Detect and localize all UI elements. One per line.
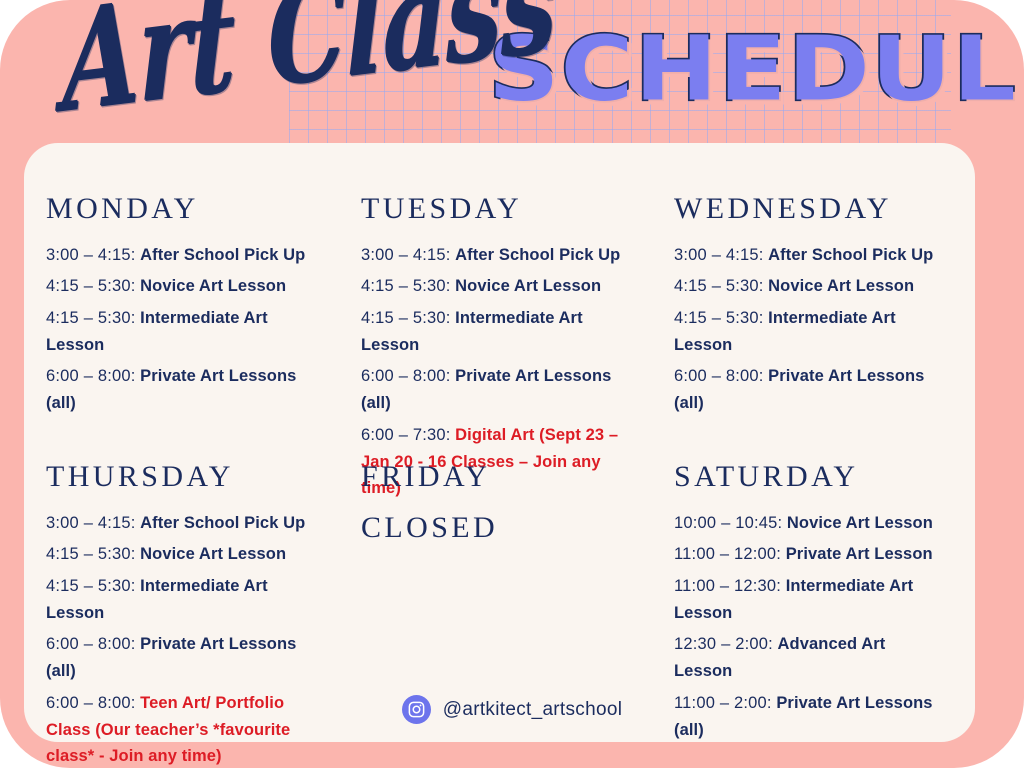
schedule-entry: 4:15 – 5:30: Novice Art Lesson [46,541,329,568]
schedule-entry: 4:15 – 5:30: Intermediate Art Lesson [46,305,329,358]
footer: @artkitect_artschool [0,695,1024,724]
schedule-entry: 4:15 – 5:30: Novice Art Lesson [674,273,935,300]
entry-label: Novice Art Lesson [140,545,286,563]
schedule-entry: 4:15 – 5:30: Intermediate Art Lesson [361,305,632,358]
instagram-icon[interactable] [402,695,431,724]
day-title-monday: MONDAY [46,191,329,228]
schedule-entry: 6:00 – 8:00: Private Art Lessons (all) [46,631,329,684]
day-subtitle-friday: CLOSED [361,510,632,547]
entry-label: Private Art Lesson [786,545,933,563]
entry-time: 6:00 – 8:00: [361,367,451,385]
instagram-handle[interactable]: @artkitect_artschool [443,699,622,721]
schedule-entry: 3:00 – 4:15: After School Pick Up [46,242,329,269]
day-column-monday: MONDAY3:00 – 4:15: After School Pick Up4… [46,191,341,459]
entry-label: Novice Art Lesson [455,277,601,295]
entry-time: 11:00 – 12:30: [674,577,781,595]
entry-time: 6:00 – 8:00: [46,367,136,385]
entry-time: 3:00 – 4:15: [46,514,136,532]
day-title-tuesday: TUESDAY [361,191,632,228]
schedule-entry: 6:00 – 8:00: Private Art Lessons (all) [46,363,329,416]
days-grid: MONDAY3:00 – 4:15: After School Pick Up4… [24,143,975,742]
schedule-entry: 3:00 – 4:15: After School Pick Up [46,510,329,537]
entry-time: 4:15 – 5:30: [674,277,764,295]
entry-label: After School Pick Up [768,246,933,264]
entry-time: 4:15 – 5:30: [361,309,451,327]
entry-label: After School Pick Up [140,246,305,264]
schedule-entry: 3:00 – 4:15: After School Pick Up [674,242,935,269]
title-schedule: SCHEDULE [488,24,1024,113]
entry-time: 6:00 – 8:00: [674,367,764,385]
entry-label: Novice Art Lesson [768,277,914,295]
schedule-entry: 4:15 – 5:30: Novice Art Lesson [46,273,329,300]
schedule-entry: 4:15 – 5:30: Intermediate Art Lesson [46,573,329,626]
entry-time: 3:00 – 4:15: [46,246,136,264]
entry-time: 10:00 – 10:45: [674,514,782,532]
schedule-entry: 12:30 – 2:00: Advanced Art Lesson [674,631,935,684]
entry-time: 4:15 – 5:30: [46,277,136,295]
entry-time: 6:00 – 7:30: [361,426,451,444]
day-title-thursday: THURSDAY [46,459,329,496]
entry-label: Novice Art Lesson [787,514,933,532]
entry-time: 11:00 – 12:00: [674,545,781,563]
schedule-entry: 4:15 – 5:30: Intermediate Art Lesson [674,305,935,358]
day-column-tuesday: TUESDAY3:00 – 4:15: After School Pick Up… [349,191,644,459]
entry-time: 6:00 – 8:00: [46,635,136,653]
entry-time: 3:00 – 4:15: [674,246,764,264]
day-title-wednesday: WEDNESDAY [674,191,935,228]
day-title-saturday: SATURDAY [674,459,935,496]
entry-label: After School Pick Up [455,246,620,264]
poster-root: SCHEDULE Art Class MONDAY3:00 – 4:15: Af… [0,0,1024,768]
entry-label: Novice Art Lesson [140,277,286,295]
entry-time: 4:15 – 5:30: [46,545,136,563]
entry-time: 4:15 – 5:30: [46,577,136,595]
schedule-entry: 11:00 – 12:00: Private Art Lesson [674,541,935,568]
day-title-friday: FRIDAY [361,459,632,496]
schedule-entry: 6:00 – 8:00: Private Art Lessons (all) [674,363,935,416]
schedule-entry: 11:00 – 12:30: Intermediate Art Lesson [674,573,935,626]
pink-background-card: SCHEDULE Art Class MONDAY3:00 – 4:15: Af… [0,0,1024,768]
entry-time: 4:15 – 5:30: [46,309,136,327]
entry-time: 3:00 – 4:15: [361,246,451,264]
entry-label: After School Pick Up [140,514,305,532]
schedule-entry: 6:00 – 8:00: Private Art Lessons (all) [361,363,632,416]
entry-time: 4:15 – 5:30: [674,309,764,327]
entry-time: 4:15 – 5:30: [361,277,451,295]
schedule-entry: 3:00 – 4:15: After School Pick Up [361,242,632,269]
day-column-wednesday: WEDNESDAY3:00 – 4:15: After School Pick … [652,191,947,459]
schedule-entry: 10:00 – 10:45: Novice Art Lesson [674,510,935,537]
entry-time: 12:30 – 2:00: [674,635,773,653]
schedule-entry: 4:15 – 5:30: Novice Art Lesson [361,273,632,300]
